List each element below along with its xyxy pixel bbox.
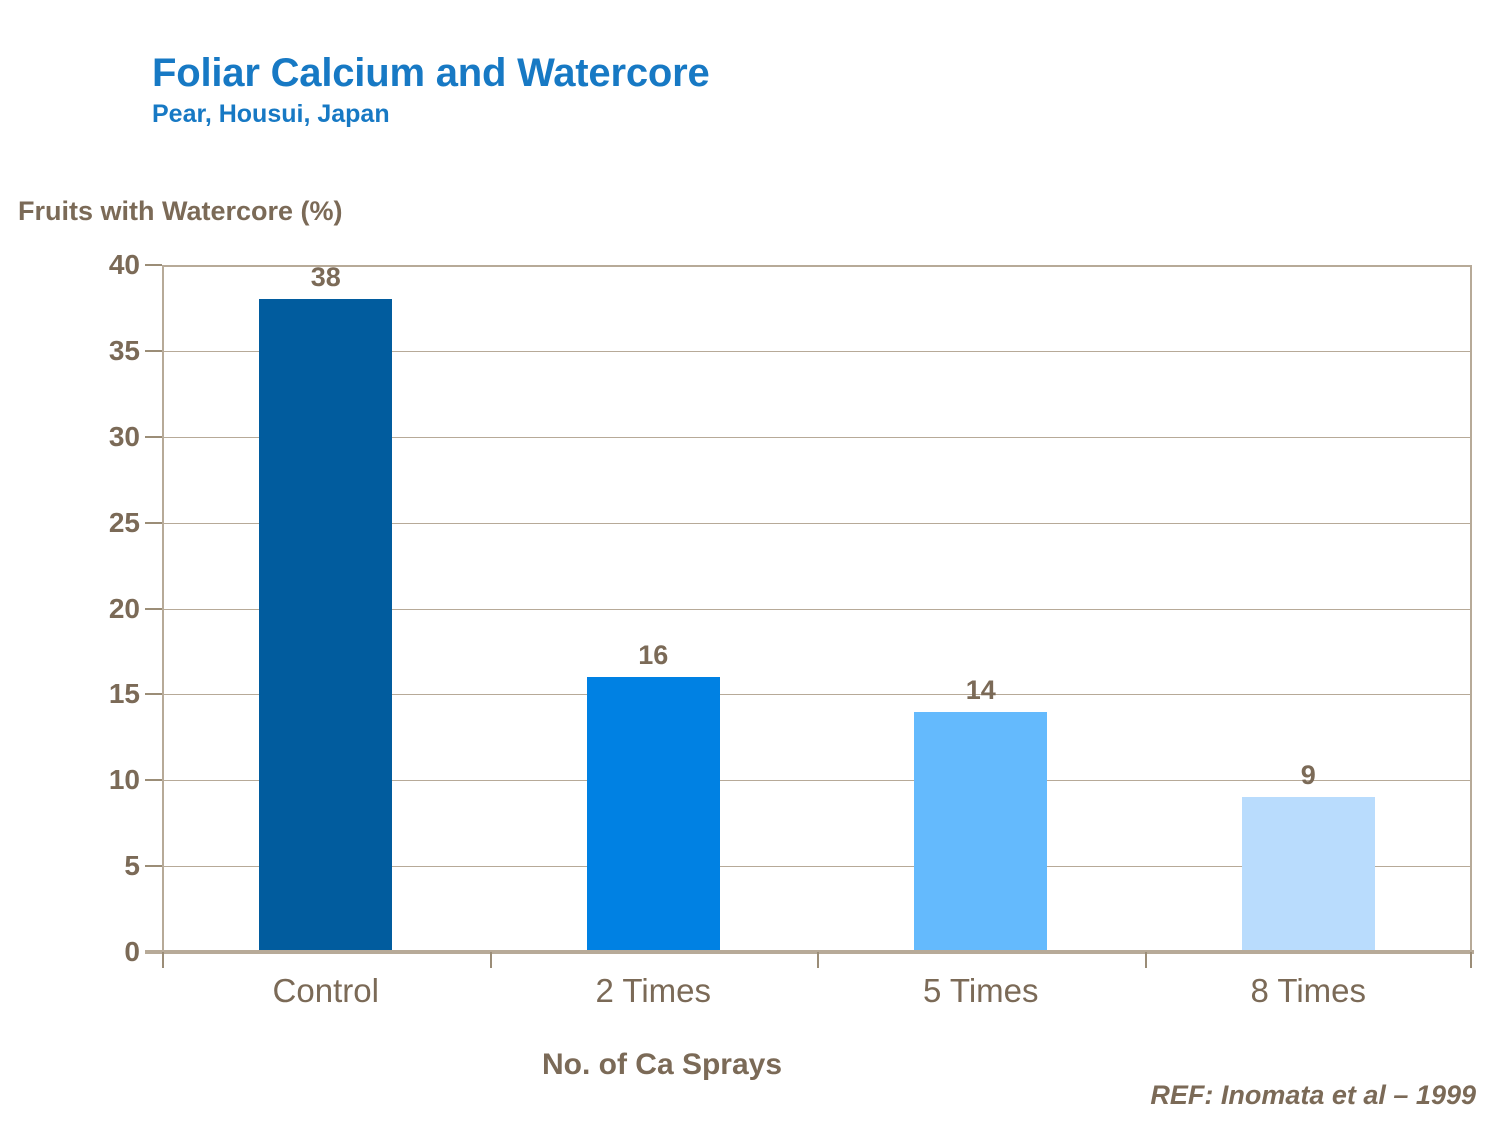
bar-value-label: 9 — [1301, 760, 1316, 791]
chart-plot: 3816149 — [162, 265, 1472, 952]
bar-5-times[interactable]: 14 — [914, 712, 1047, 952]
y-axis-tick-marks — [145, 265, 162, 952]
title-block: Foliar Calcium and Watercore Pear, Housu… — [152, 52, 1252, 129]
y-axis-tick-label: 20 — [60, 593, 140, 625]
x-axis-tick-marks — [162, 952, 1472, 968]
y-axis-tick-label: 0 — [60, 936, 140, 968]
x-axis-category-label: 2 Times — [490, 972, 818, 1010]
reference-note: REF: Inomata et al – 1999 — [1150, 1080, 1476, 1111]
y-axis-tick-mark — [145, 779, 162, 781]
x-axis-category-label: 8 Times — [1145, 972, 1473, 1010]
y-axis-tick-label: 25 — [60, 507, 140, 539]
bar-control[interactable]: 38 — [259, 299, 392, 952]
x-axis-tick-mark — [490, 952, 492, 968]
y-axis-tick-mark — [145, 865, 162, 867]
bar-value-label: 14 — [966, 675, 996, 706]
page-subtitle: Pear, Housui, Japan — [152, 100, 1252, 129]
x-axis-category-label: 5 Times — [817, 972, 1145, 1010]
y-axis-tick-mark — [145, 350, 162, 352]
x-axis-tick-mark — [1470, 952, 1472, 968]
bar-value-label: 16 — [638, 640, 668, 671]
page-title: Foliar Calcium and Watercore — [152, 52, 1252, 95]
bar-slot: 38 — [162, 265, 490, 952]
y-axis-tick-label: 40 — [60, 249, 140, 281]
y-axis-tick-mark — [145, 608, 162, 610]
y-axis-tick-mark — [145, 436, 162, 438]
y-axis-tick-labels: 0510152025303540 — [60, 265, 140, 952]
bar-8-times[interactable]: 9 — [1242, 797, 1375, 952]
y-axis-tick-label: 10 — [60, 764, 140, 796]
y-axis-tick-mark — [145, 522, 162, 524]
bar-value-label: 38 — [311, 262, 341, 293]
bar-slot: 9 — [1145, 265, 1473, 952]
bar-2-times[interactable]: 16 — [587, 677, 720, 952]
x-axis-category-label: Control — [162, 972, 490, 1010]
x-axis-tick-mark — [162, 952, 164, 968]
x-axis-tick-mark — [817, 952, 819, 968]
bar-slot: 14 — [817, 265, 1145, 952]
y-axis-tick-label: 30 — [60, 421, 140, 453]
y-axis-tick-label: 35 — [60, 335, 140, 367]
bar-series: 3816149 — [162, 265, 1472, 952]
y-axis-tick-label: 15 — [60, 678, 140, 710]
bar-slot: 16 — [490, 265, 818, 952]
x-axis-title: No. of Ca Sprays — [162, 1048, 1162, 1082]
x-axis-tick-mark — [1145, 952, 1147, 968]
y-axis-title: Fruits with Watercore (%) — [18, 196, 343, 227]
y-axis-tick-mark — [145, 264, 162, 266]
y-axis-tick-mark — [145, 693, 162, 695]
x-axis-category-labels: Control2 Times5 Times8 Times — [162, 972, 1472, 1010]
y-axis-tick-label: 5 — [60, 850, 140, 882]
